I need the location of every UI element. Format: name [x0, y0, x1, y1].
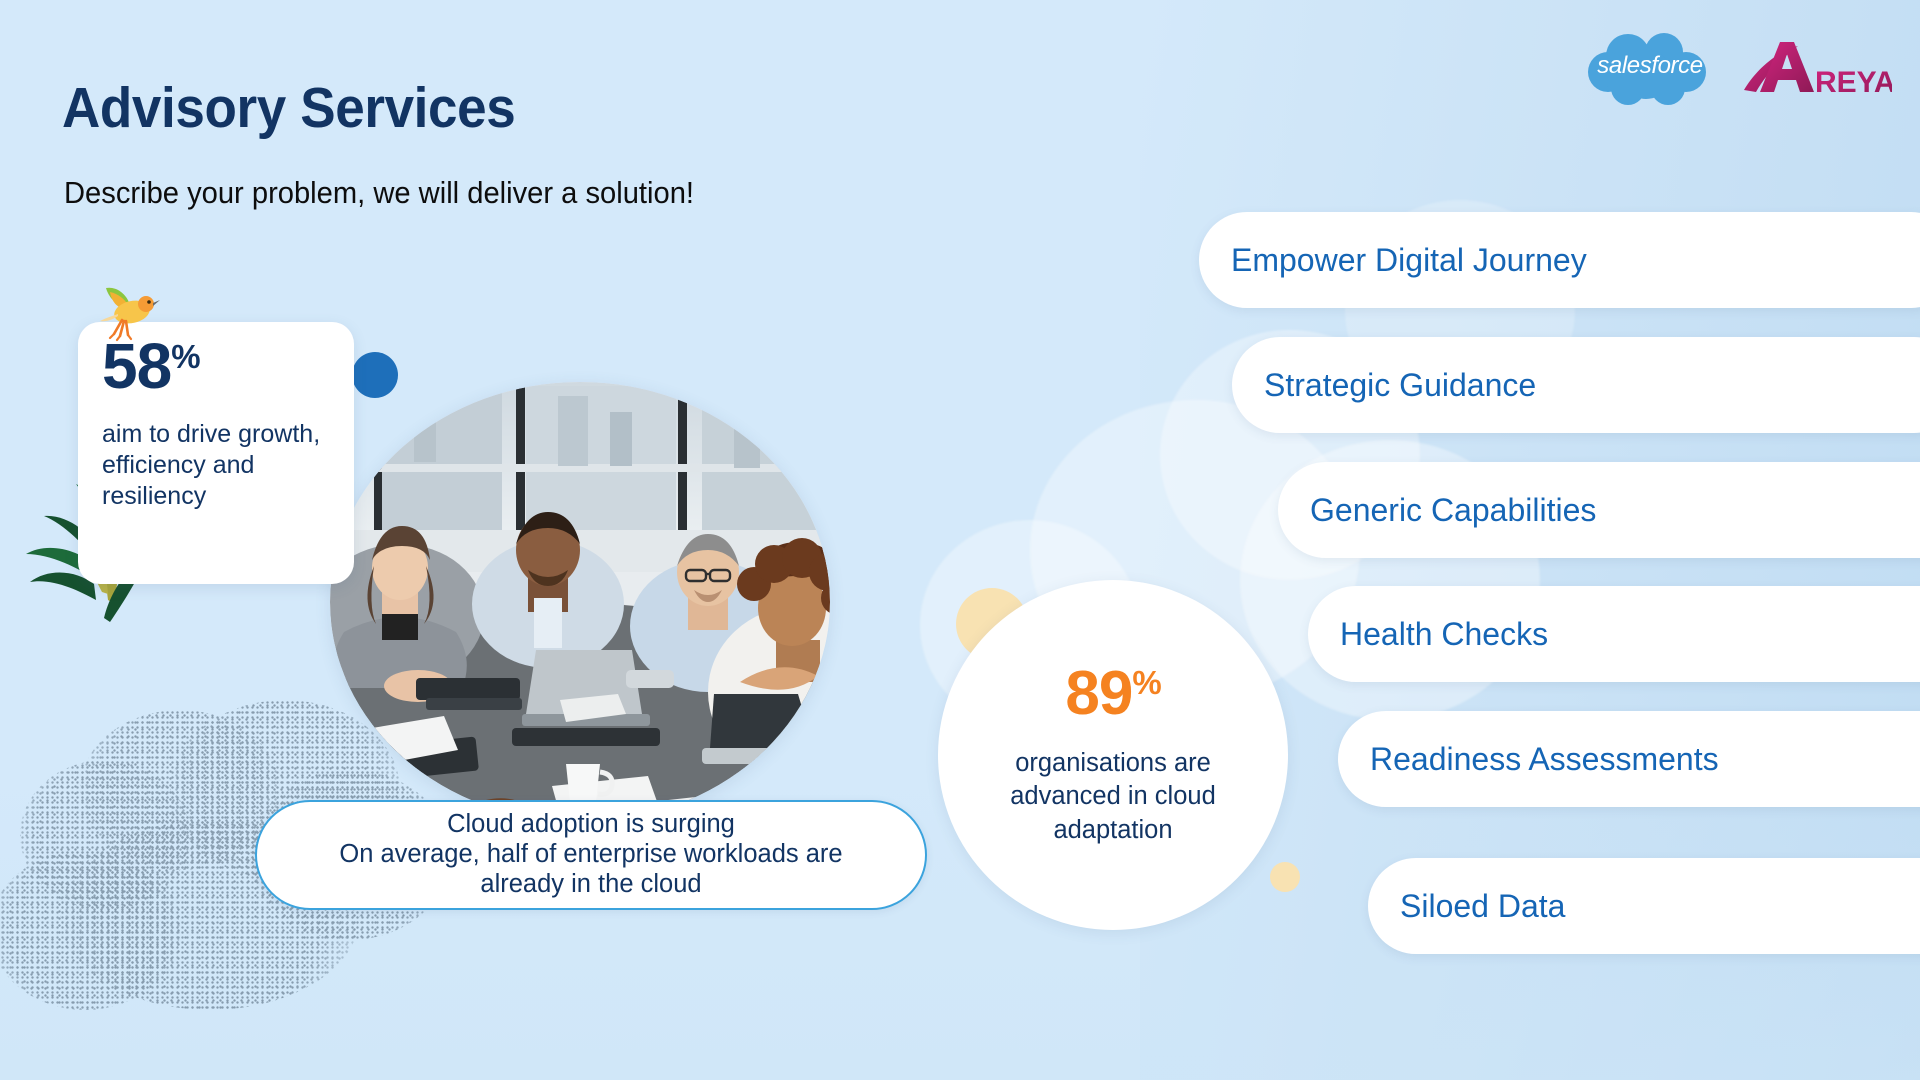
service-pill-label: Strategic Guidance — [1232, 367, 1536, 404]
stat-card-58: 58 % aim to drive growth, efficiency and… — [78, 322, 354, 584]
service-pill-readiness-assessments[interactable]: Readiness Assessments — [1338, 711, 1920, 807]
service-pill-label: Health Checks — [1308, 616, 1548, 653]
stat-card-percent-symbol: % — [171, 340, 199, 373]
salesforce-logo: salesforce — [1580, 28, 1720, 106]
service-pill-generic-capabilities[interactable]: Generic Capabilities — [1278, 462, 1920, 558]
business-meeting-photo — [330, 382, 830, 822]
cloud-adoption-callout: Cloud adoption is surging On average, ha… — [255, 800, 927, 910]
salesforce-logo-text: salesforce — [1580, 28, 1720, 106]
service-pill-label: Empower Digital Journey — [1199, 242, 1587, 279]
service-pill-health-checks[interactable]: Health Checks — [1308, 586, 1920, 682]
service-pill-label: Generic Capabilities — [1278, 492, 1596, 529]
service-pill-label: Siloed Data — [1368, 888, 1565, 925]
callout-line-1: Cloud adoption is surging — [339, 810, 842, 840]
stat-circle-value-group: 89 % — [1065, 663, 1160, 725]
cloud-adoption-callout-text: Cloud adoption is surging On average, ha… — [315, 810, 866, 899]
slide-canvas: Advisory Services Describe your problem,… — [0, 0, 1920, 1080]
service-pill-label: Readiness Assessments — [1338, 741, 1719, 778]
service-pill-siloed-data[interactable]: Siloed Data — [1368, 858, 1920, 954]
service-pill-empower-digital-journey[interactable]: Empower Digital Journey — [1199, 212, 1920, 308]
stat-circle-percent-symbol: % — [1132, 666, 1160, 699]
hummingbird-icon — [88, 282, 160, 348]
stat-circle-89: 89 % organisations are advanced in cloud… — [938, 580, 1288, 930]
callout-line-2: On average, half of enterprise workloads… — [339, 840, 842, 870]
stat-card-description: aim to drive growth, efficiency and resi… — [102, 419, 334, 512]
stat-circle-description: organisations are advanced in cloud adap… — [973, 747, 1253, 848]
service-pill-strategic-guidance[interactable]: Strategic Guidance — [1232, 337, 1920, 433]
callout-line-3: already in the cloud — [339, 870, 842, 900]
stat-circle-value: 89 — [1065, 663, 1132, 725]
